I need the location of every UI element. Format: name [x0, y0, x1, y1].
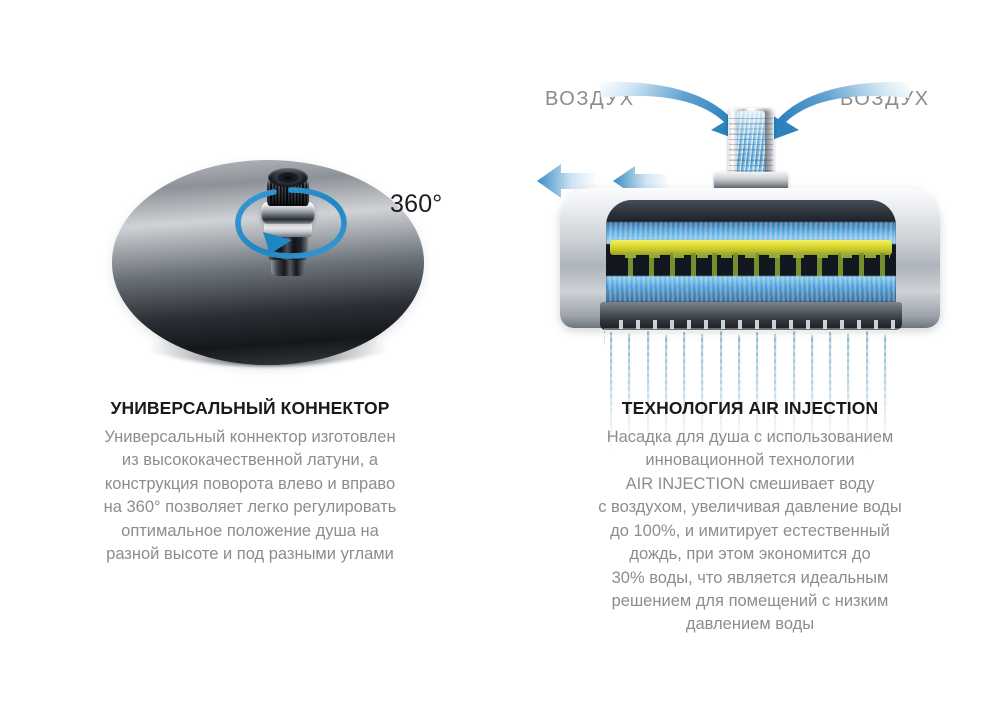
caption-line: Насадка для душа с использованием [540, 426, 960, 449]
rotation-degrees-label: 360° [390, 190, 443, 219]
nozzle-peg-caps [612, 253, 890, 258]
left-caption: УНИВЕРСАЛЬНЫЙ КОННЕКТОР Универсальный ко… [40, 398, 460, 567]
caption-line: разной высоте и под разными углами [40, 543, 460, 566]
caption-line: конструкция поворота влево и вправо [40, 473, 460, 496]
caption-line: 30% воды, что является идеальным [540, 567, 960, 590]
air-injection-figure: ВОЗДУХ ВОЗДУХ [500, 0, 1000, 390]
right-caption-body: Насадка для душа с использованием иннова… [540, 426, 960, 637]
caption-line: с воздухом, увеличивая давление воды [540, 496, 960, 519]
shower-head-disc: 360° [112, 160, 424, 365]
caption-line: на 360° позволяет легко регулировать [40, 496, 460, 519]
infographic-page: 360° УНИВЕРСАЛЬНЫЙ КОННЕКТОР Универсальн… [0, 0, 1000, 705]
universal-connector-figure: 360° [0, 0, 500, 390]
rotation-arrow-icon [230, 182, 352, 268]
lower-water-chamber [606, 276, 896, 302]
left-caption-body: Универсальный коннектор изготовлен из вы… [40, 426, 460, 567]
caption-line: Универсальный коннектор изготовлен [40, 426, 460, 449]
shower-head-cutaway [560, 108, 940, 388]
caption-line: дождь, при этом экономится до [540, 543, 960, 566]
caption-line: решением для помещений с низким [540, 590, 960, 613]
caption-line: до 100%, и имитирует естественный [540, 520, 960, 543]
right-caption: ТЕХНОЛОГИЯ AIR INJECTION Насадка для душ… [540, 398, 960, 637]
caption-line: оптимальное положение душа на [40, 520, 460, 543]
right-feature-column: ВОЗДУХ ВОЗДУХ [500, 0, 1000, 705]
left-feature-column: 360° УНИВЕРСАЛЬНЫЙ КОННЕКТОР Универсальн… [0, 0, 500, 705]
caption-line: AIR INJECTION смешивает воду [540, 473, 960, 496]
caption-line: давлением воды [540, 613, 960, 636]
caption-line: из высококачественной латуни, а [40, 449, 460, 472]
caption-line: инновационной технологии [540, 449, 960, 472]
right-caption-title: ТЕХНОЛОГИЯ AIR INJECTION [540, 398, 960, 419]
left-caption-title: УНИВЕРСАЛЬНЫЙ КОННЕКТОР [40, 398, 460, 419]
